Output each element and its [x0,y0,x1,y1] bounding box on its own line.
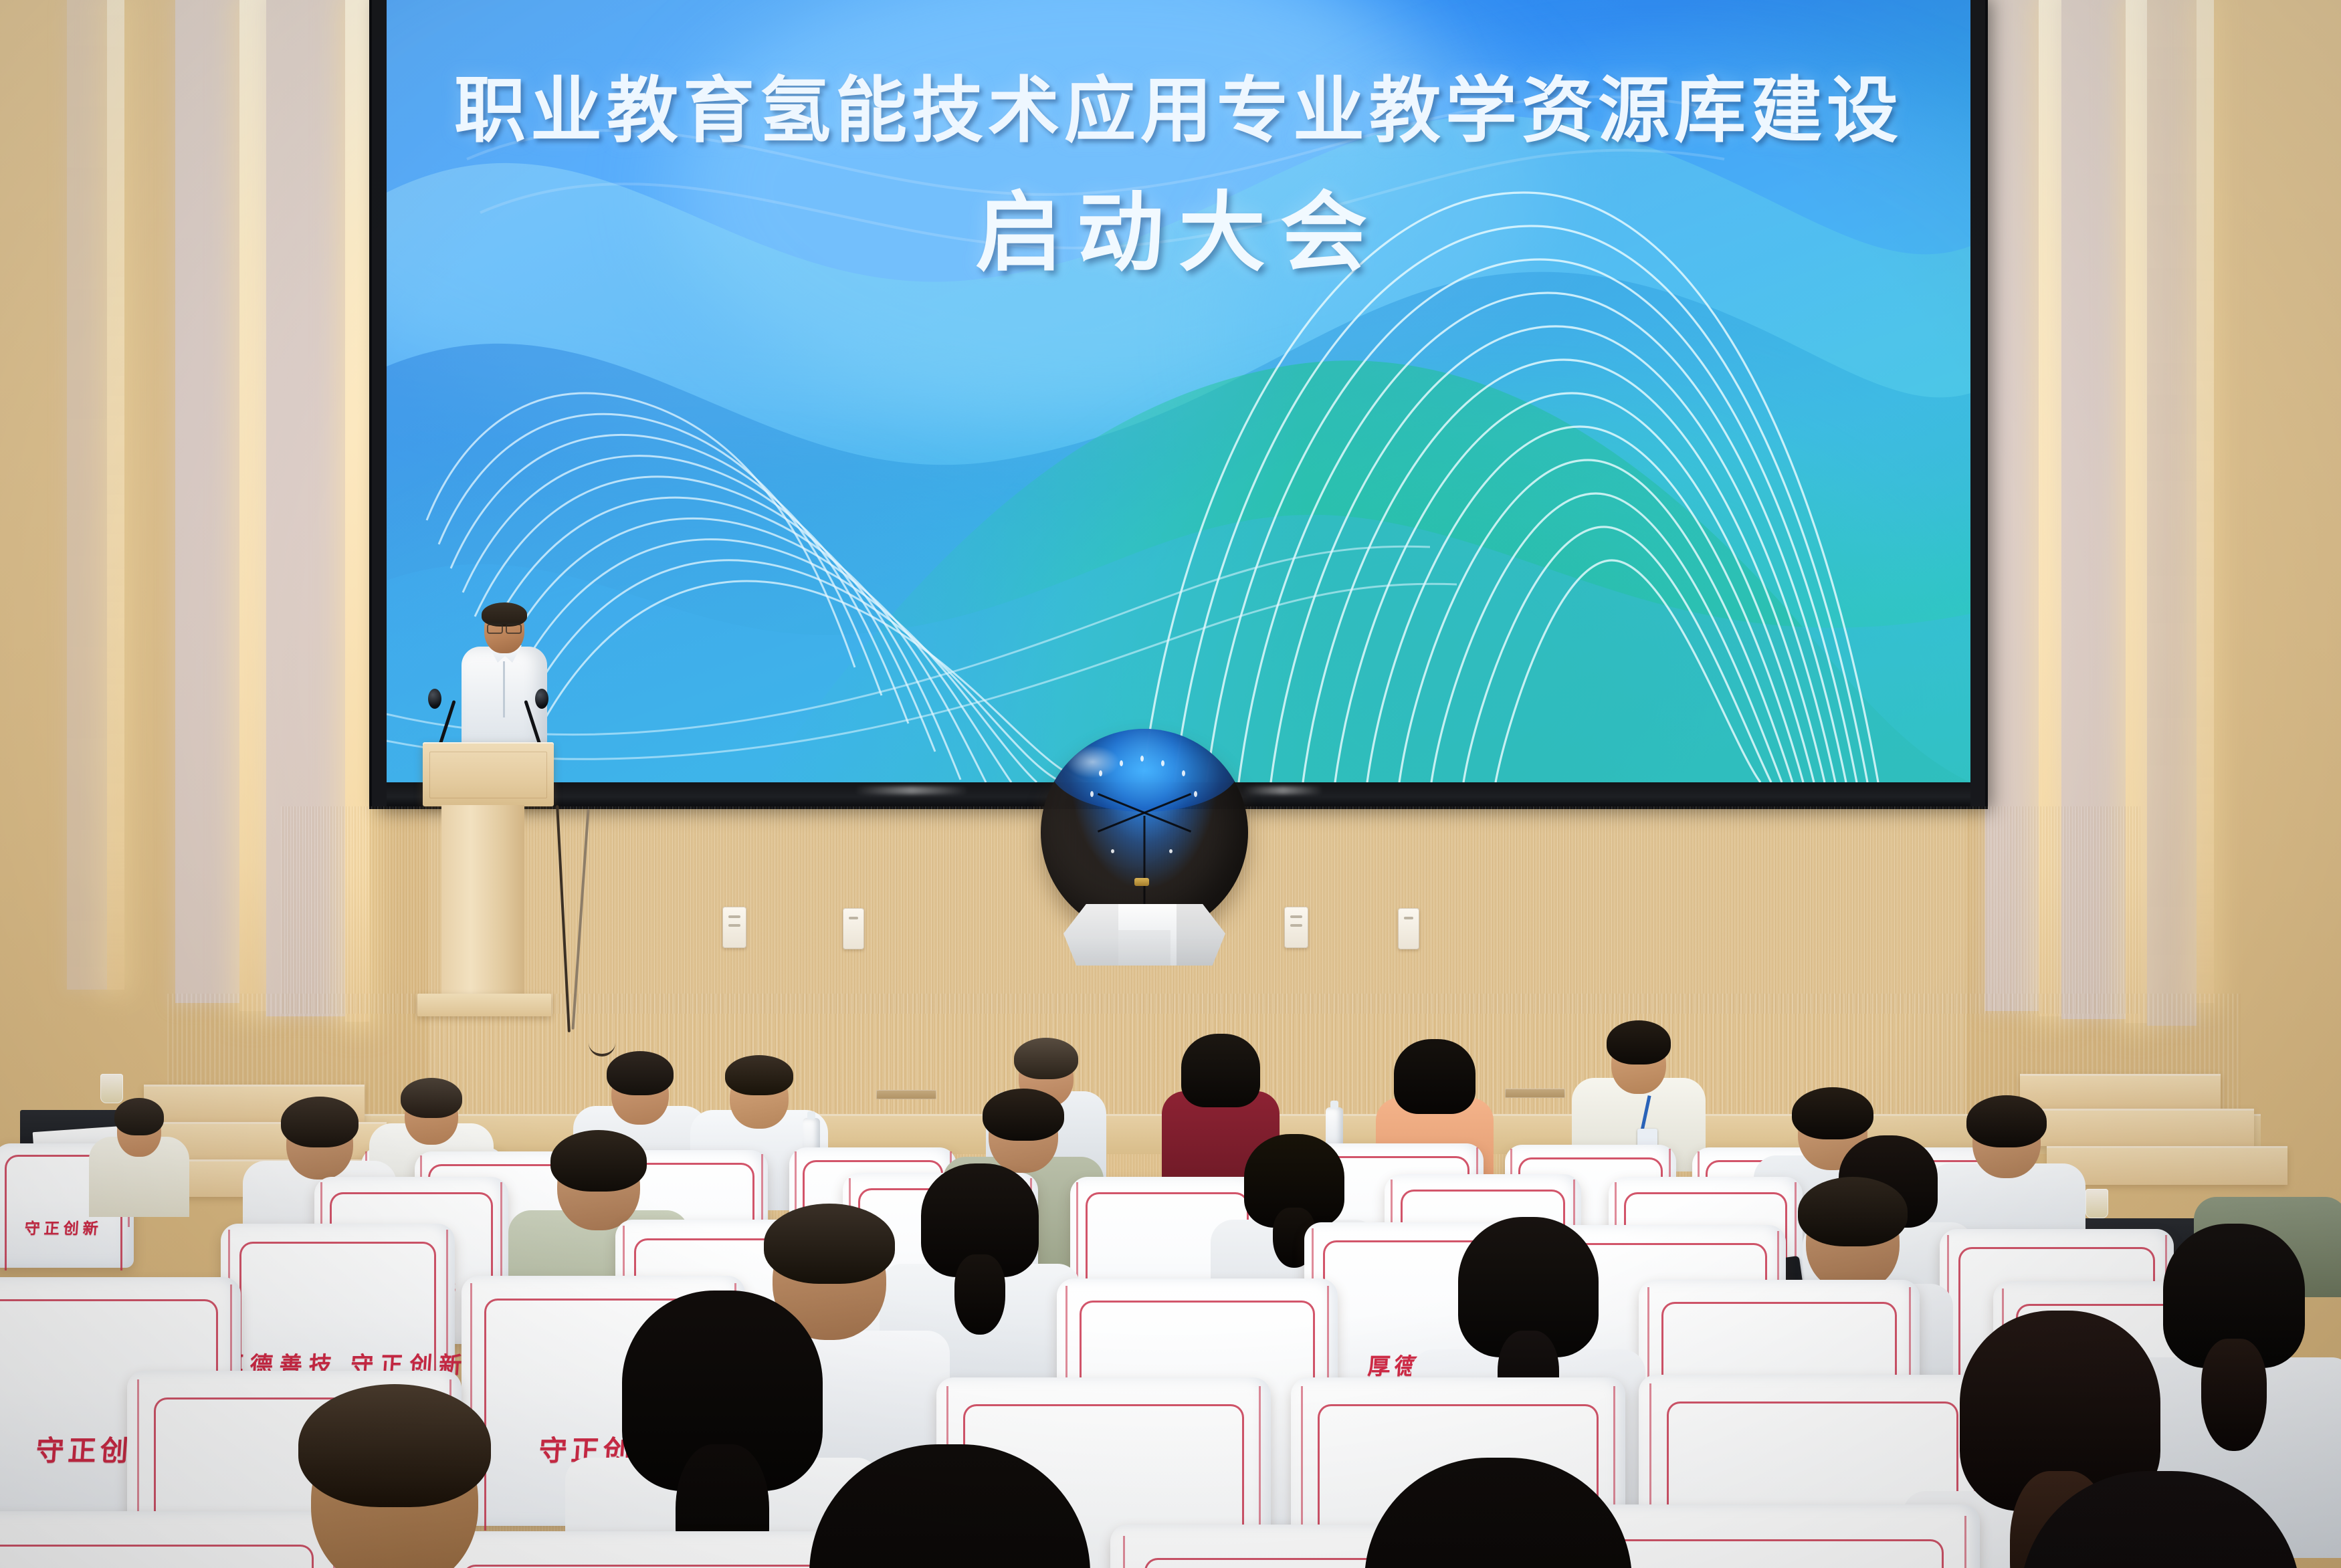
podium-top [423,742,554,806]
sphere-gold-element [1134,878,1149,886]
sphere-spark-4 [1161,760,1164,766]
sphere-pedestal [1063,904,1225,966]
led-screen-surface: 职业教育氢能技术应用专业教学资源库建设 启动大会 [387,0,1970,782]
sphere-spark-9 [1169,849,1173,853]
left-light-slat-1 [175,0,239,1003]
podium-column [441,805,524,999]
screen-text-block: 职业教育氢能技术应用专业教学资源库建设 启动大会 [387,71,1970,282]
left-light-slat-5 [67,0,107,990]
right-light-slat-6 [2197,0,2214,1003]
bezel-glint-2 [1243,786,1323,794]
sphere-specular-highlight [1065,746,1120,779]
screen-main-title: 职业教育氢能技术应用专业教学资源库建设 [387,71,1970,153]
audience-person-g3 [1324,1458,1672,1568]
chair-embroidery: 守正创新 [0,1216,134,1238]
sphere-spark-3 [1140,756,1144,762]
sphere-spark-8 [1111,849,1114,853]
bezel-glint-1 [855,786,969,794]
conference-hall-photo: 职业教育氢能技术应用专业教学资源库建设 启动大会 [0,0,2341,1568]
audience-seating-area: 守正创新 守正创新 [0,976,2341,1568]
right-light-slat-5 [2147,0,2197,1026]
wall-outlet-1 [722,907,746,948]
audience-person-g2 [769,1444,1130,1568]
wall-switch-1 [843,908,864,949]
audience-person-g4 [1980,1471,2341,1568]
microphone-head-right [535,689,548,709]
sphere-spark-2 [1120,760,1123,766]
wall-outlet-2 [1284,907,1308,948]
audience-person-a8 [1585,1016,1692,1157]
speaker-eyeglasses [487,623,522,631]
audience-person-a1 [92,1094,186,1208]
audience-person-g1 [221,1384,569,1568]
tea-cup-right [2085,1189,2108,1218]
led-video-wall: 职业教育氢能技术应用专业教学资源库建设 启动大会 [372,0,1985,806]
wall-switch-2 [1398,908,1419,949]
microphone-head-left [428,689,441,709]
sphere-center-stem [1144,816,1146,911]
left-light-slat-6 [107,0,124,990]
sphere-spark-5 [1182,770,1185,776]
glass-sphere-sculpture [1041,729,1248,949]
screen-subtitle: 启动大会 [387,187,1970,282]
left-light-slat-2 [239,0,266,1011]
speaker-shirt-placket [503,661,505,717]
